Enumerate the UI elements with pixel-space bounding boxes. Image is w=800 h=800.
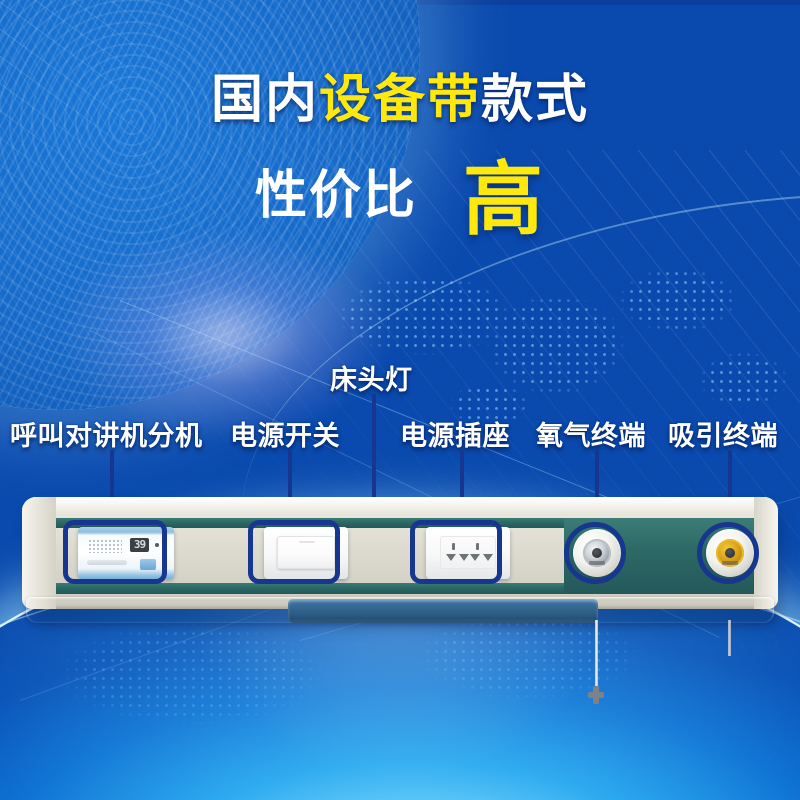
callout-box-power-socket [410, 520, 502, 584]
headline-value-text: 性价比 [255, 166, 417, 226]
promo-banner: 国内设备带款式 性价比高 呼叫对讲机分机 电源开关 床头灯 电源插座 氧气终端 … [0, 0, 800, 800]
pull-cord-icon[interactable] [728, 620, 731, 656]
callout-label-power-switch: 电源开关 [230, 414, 340, 453]
pull-cord-handle[interactable] [588, 686, 604, 704]
panel-left-end-cap [22, 497, 56, 609]
callout-label-oxygen: 氧气终端 [536, 414, 646, 453]
panel-stripe-bottom [44, 583, 564, 594]
callout-circle-oxygen [564, 522, 626, 584]
callout-label-bedside-lamp: 床头灯 [330, 358, 413, 397]
callout-box-power-switch [248, 520, 340, 584]
callout-box-intercom [63, 520, 167, 584]
panel-top-highlight [22, 497, 778, 513]
headline-part-3: 款式 [481, 70, 589, 130]
headline-part-2-highlight: 设备带 [319, 70, 481, 130]
callout-label-suction: 吸引终端 [668, 414, 778, 453]
callout-label-power-socket: 电源插座 [400, 414, 510, 453]
headline-line-1: 国内设备带款式 [0, 74, 800, 126]
headline-block: 国内设备带款式 性价比高 [0, 74, 800, 126]
headline-line-2: 性价比高 [0, 160, 800, 240]
callout-label-intercom: 呼叫对讲机分机 [10, 414, 203, 453]
headline-part-1: 国内 [211, 70, 319, 130]
pull-cord-icon[interactable] [595, 620, 598, 692]
bedside-lamp-diffuser[interactable] [288, 599, 598, 623]
headline-emphasis-gao: 高 [463, 153, 545, 246]
callout-circle-suction [697, 522, 759, 584]
